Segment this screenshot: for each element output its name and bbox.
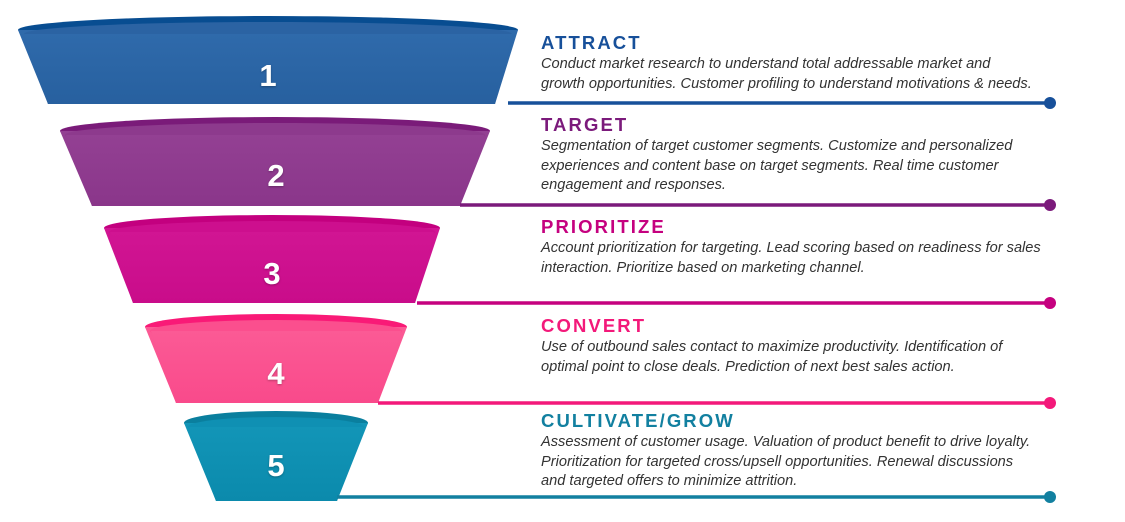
connector-1 — [508, 97, 1056, 109]
funnel-segment-3-wall — [110, 232, 434, 303]
funnel-segment-2[interactable] — [60, 117, 490, 206]
stage-description-4: Use of outbound sales contact to maximiz… — [541, 338, 1086, 377]
stage-text-5: CULTIVATE/GROW Assessment of customer us… — [541, 411, 1086, 492]
connector-dot-2 — [1044, 199, 1056, 211]
connector-dot-1 — [1044, 97, 1056, 109]
stage-description-3-line-2: interaction. Prioritize based on marketi… — [541, 259, 1086, 278]
stage-description-5: Assessment of customer usage. Valuation … — [541, 433, 1086, 491]
funnel-segment-3[interactable] — [104, 215, 440, 303]
connector-dot-4 — [1044, 397, 1056, 409]
connector-dot-5 — [1044, 491, 1056, 503]
stage-description-4-line-2: optimal point to close deals. Prediction… — [541, 358, 1086, 377]
stage-description-2-line-3: engagement and responses. — [541, 176, 1086, 195]
stage-description-1-line-1: Conduct market research to understand to… — [541, 55, 1086, 74]
stage-title-1: ATTRACT — [541, 33, 1086, 53]
stage-description-2-line-1: Segmentation of target customer segments… — [541, 137, 1086, 156]
stage-text-4: CONVERT Use of outbound sales contact to… — [541, 316, 1086, 377]
connector-dot-3 — [1044, 297, 1056, 309]
connector-4 — [378, 397, 1056, 409]
funnel-segment-2-wall — [66, 135, 484, 206]
connector-5 — [337, 491, 1056, 503]
stage-title-2: TARGET — [541, 115, 1086, 135]
funnel-diagram: 1 2 3 4 5 ATTRACT Conduct market researc… — [0, 0, 1125, 522]
stage-text-1: ATTRACT Conduct market research to under… — [541, 33, 1086, 94]
stage-description-1-line-2: growth opportunities. Customer profiling… — [541, 75, 1086, 94]
connector-3 — [417, 297, 1056, 309]
stage-description-1: Conduct market research to understand to… — [541, 55, 1086, 94]
funnel-segment-5-wall — [189, 427, 363, 501]
connector-2 — [460, 199, 1056, 211]
funnel-segment-4[interactable] — [145, 314, 407, 403]
funnel-segment-5[interactable] — [184, 411, 368, 501]
stage-title-5: CULTIVATE/GROW — [541, 411, 1086, 431]
stage-description-5-line-3: and targeted offers to minimize attritio… — [541, 472, 1086, 491]
stage-text-2: TARGET Segmentation of target customer s… — [541, 115, 1086, 196]
stage-description-2-line-2: experiences and content base on target s… — [541, 157, 1086, 176]
funnel-segment-1[interactable] — [18, 16, 518, 104]
funnel-segment-4-wall — [151, 331, 401, 403]
stage-text-3: PRIORITIZE Account prioritization for ta… — [541, 217, 1086, 278]
stage-title-3: PRIORITIZE — [541, 217, 1086, 237]
stage-description-5-line-2: Prioritization for targeted cross/upsell… — [541, 453, 1086, 472]
stage-title-4: CONVERT — [541, 316, 1086, 336]
funnel-segment-1-wall — [24, 34, 512, 104]
stage-description-5-line-1: Assessment of customer usage. Valuation … — [541, 433, 1086, 452]
stage-description-2: Segmentation of target customer segments… — [541, 137, 1086, 195]
stage-description-4-line-1: Use of outbound sales contact to maximiz… — [541, 338, 1086, 357]
stage-description-3-line-1: Account prioritization for targeting. Le… — [541, 239, 1086, 258]
stage-description-3: Account prioritization for targeting. Le… — [541, 239, 1086, 278]
